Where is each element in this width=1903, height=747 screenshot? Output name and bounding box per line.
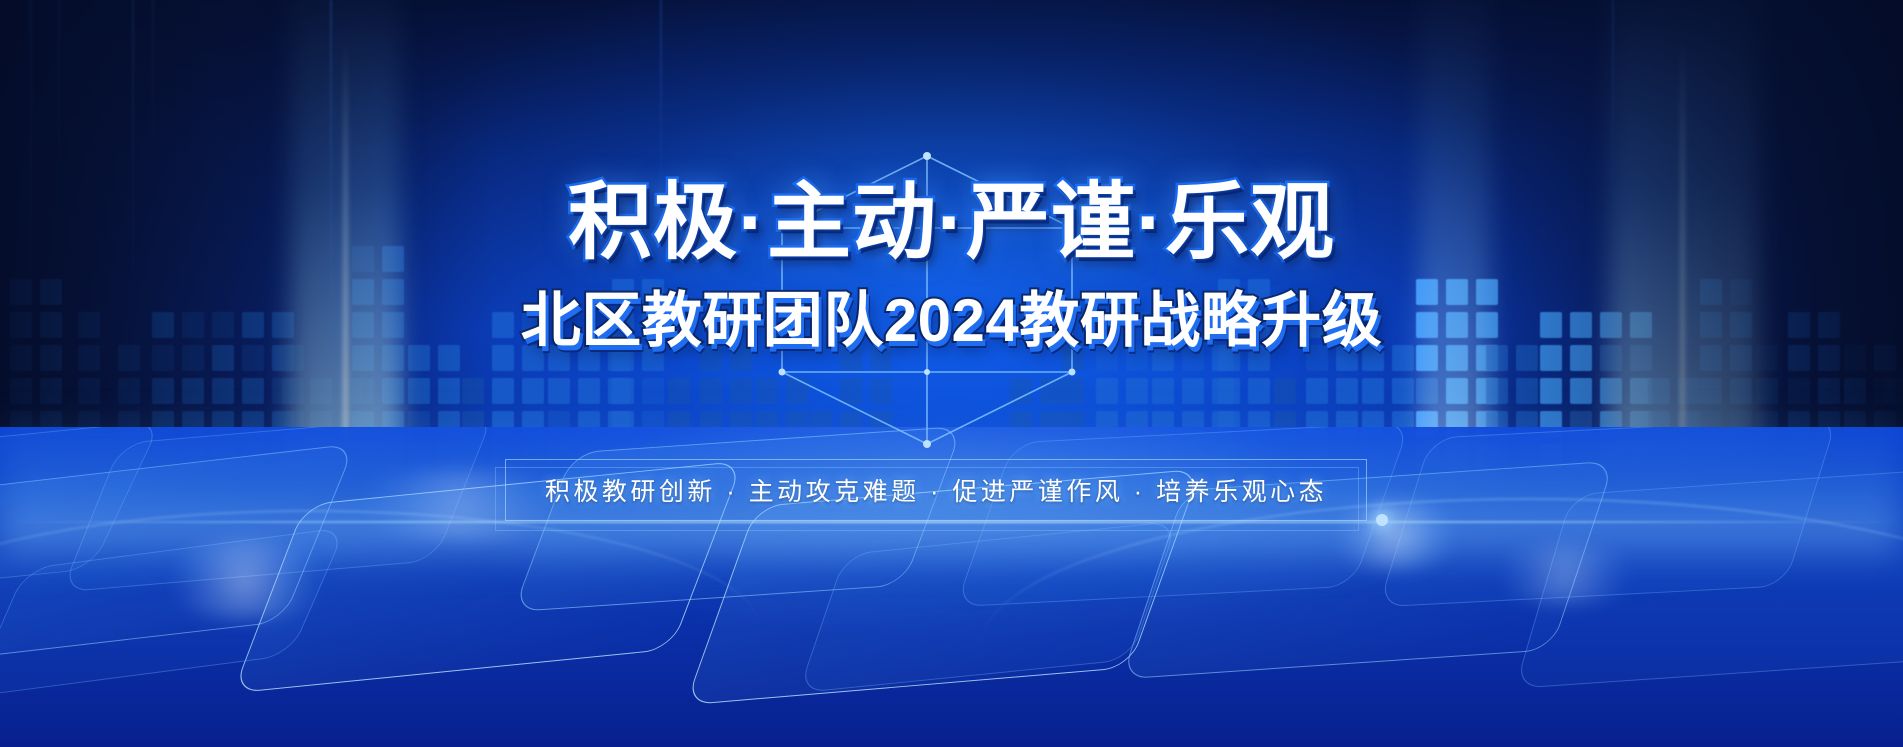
main-title: 积极·主动·严谨·乐观	[0, 178, 1903, 266]
tagline-text: 积极教研创新 · 主动攻克难题 · 促进严谨作风 · 培养乐观心态	[506, 460, 1366, 520]
title-block: 积极·主动·严谨·乐观 北区教研团队2024教研战略升级	[0, 178, 1903, 359]
tagline-accent-dot	[1376, 514, 1388, 526]
tagline-frame: 积极教研创新 · 主动攻克难题 · 促进严谨作风 · 培养乐观心态	[505, 459, 1367, 521]
sub-title: 北区教研团队2024教研战略升级	[0, 272, 1903, 359]
banner-root: 积极·主动·严谨·乐观 北区教研团队2024教研战略升级 积极教研创新 · 主动…	[0, 0, 1903, 747]
